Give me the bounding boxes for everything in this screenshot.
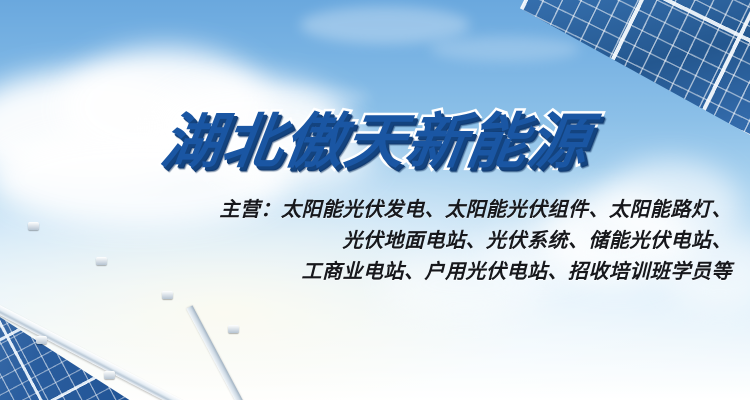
- solar-company-banner: 湖北傲天新能源 主营：太阳能光伏发电、太阳能光伏组件、太阳能路灯、 光伏地面电站…: [0, 0, 750, 400]
- panel-clamp: [162, 291, 173, 299]
- panel-clamp: [36, 336, 47, 344]
- cloud-wisp: [250, 86, 370, 108]
- cloud-shape: [205, 120, 375, 190]
- panel-clamp: [28, 222, 39, 230]
- panel-clamp: [104, 371, 115, 379]
- cloud-wisp: [300, 6, 470, 44]
- cloud-shape: [380, 250, 550, 320]
- panel-clamp: [228, 325, 239, 333]
- cloud-wisp: [430, 36, 580, 62]
- panel-clamp: [96, 257, 107, 265]
